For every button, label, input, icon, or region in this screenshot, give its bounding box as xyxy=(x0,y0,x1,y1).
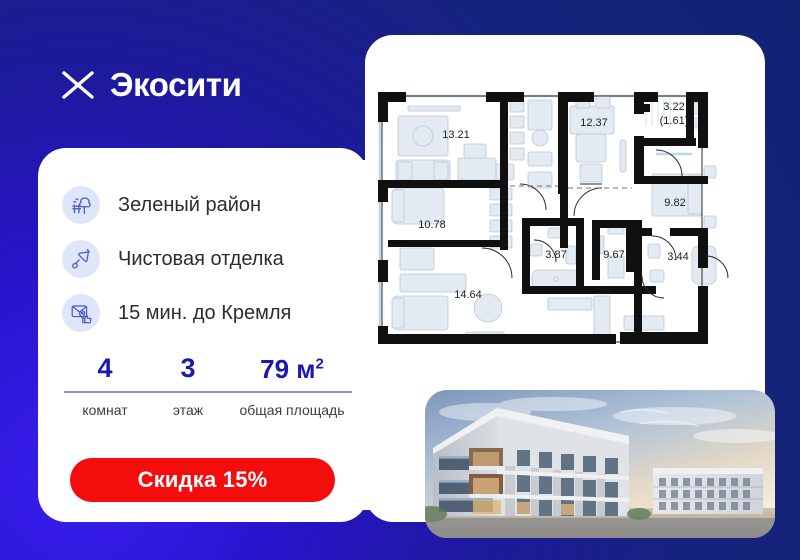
floor-plan[interactable]: 13.21 10.78 12.37 3.22 (1.61) 9.82 3.87 … xyxy=(370,80,760,370)
stat-label-floor: этаж xyxy=(146,402,230,420)
x-mark-icon xyxy=(62,70,96,100)
room-area-bedroom2: 9.82 xyxy=(664,197,685,209)
room-area-bedroom3: 14.64 xyxy=(454,289,482,301)
stat-value-floor: 3 xyxy=(146,355,230,382)
tree-bench-icon xyxy=(62,186,100,224)
room-area-living: 13.21 xyxy=(442,129,470,141)
promo-card: Экосити Зеленый райо xyxy=(0,0,800,560)
feature-label: 15 мин. до Кремля xyxy=(118,302,291,325)
stat-area-unit: 2 xyxy=(316,355,324,372)
building-photo[interactable] xyxy=(425,390,775,538)
feature-item-green-district: Зеленый район xyxy=(62,178,362,232)
brand-logo: Экосити xyxy=(62,68,242,101)
stat-label-area: общая площадь xyxy=(230,402,354,420)
trowel-icon xyxy=(62,240,100,278)
feature-item-finishing: Чистовая отделка xyxy=(62,232,362,286)
stat-value-area: 79 м2 xyxy=(230,356,354,382)
stat-values-row: 4 3 79 м2 xyxy=(64,355,354,382)
room-area-hallway: 9.67 xyxy=(603,249,624,261)
room-area-bedroom1: 10.78 xyxy=(418,219,446,231)
secondary-building xyxy=(653,468,763,514)
feature-item-kremlin-distance: 15 мин. до Кремля xyxy=(62,286,362,340)
brand-name: Экосити xyxy=(110,68,242,101)
stat-labels-row: комнат этаж общая площадь xyxy=(64,402,354,420)
room-area-bathroom1: 3.87 xyxy=(545,249,566,261)
discount-button[interactable]: Скидка 15% xyxy=(70,458,335,502)
floor-plan-drawing: 13.21 10.78 12.37 3.22 (1.61) 9.82 3.87 … xyxy=(370,80,760,370)
stats-block: 4 3 79 м2 комнат этаж общая площадь xyxy=(64,355,354,420)
building-render xyxy=(425,390,775,538)
room-area-bathroom2: 3.44 xyxy=(667,251,688,263)
map-pin-thumbsup-icon xyxy=(62,294,100,332)
room-area-kitchen: 12.37 xyxy=(580,117,608,129)
stat-value-rooms: 4 xyxy=(64,355,146,382)
room-area-balcony-reduced: (1.61) xyxy=(660,115,689,127)
feature-list: Зеленый район Чистовая отделка xyxy=(62,178,362,340)
feature-label: Зеленый район xyxy=(118,194,261,217)
stat-label-rooms: комнат xyxy=(64,402,146,420)
feature-label: Чистовая отделка xyxy=(118,248,284,271)
room-area-balcony: 3.22 xyxy=(663,101,684,113)
stats-divider xyxy=(64,391,352,393)
stat-area-number: 79 м xyxy=(260,354,315,384)
